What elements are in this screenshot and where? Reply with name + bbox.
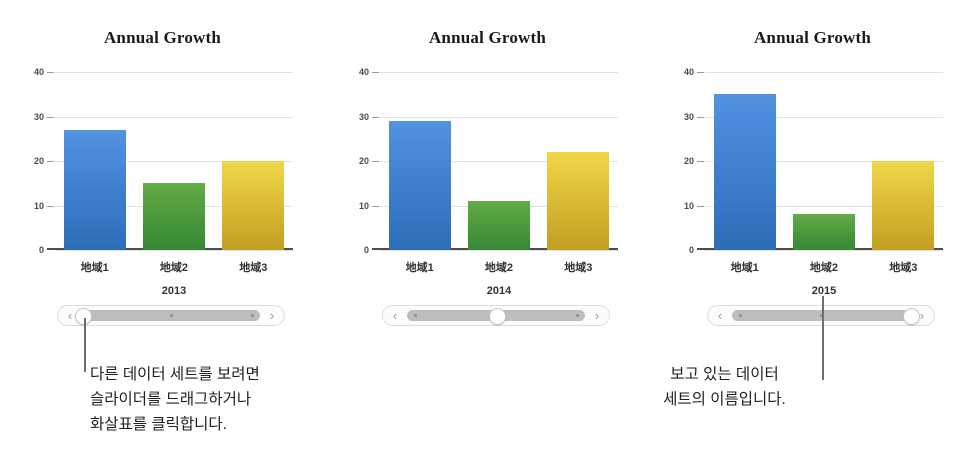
slider-tick-dot[interactable] — [414, 314, 417, 317]
bar — [714, 94, 776, 250]
data-set-slider[interactable]: ‹ › — [57, 305, 285, 326]
bar — [547, 152, 609, 250]
x-category-label: 地域1 — [705, 259, 784, 275]
x-category-label: 地域3 — [539, 259, 618, 275]
slider-tick-dot[interactable] — [170, 314, 173, 317]
slider-tick-dot[interactable] — [739, 314, 742, 317]
slider-track[interactable] — [82, 310, 260, 321]
data-set-name-label: 2015 — [705, 285, 943, 297]
y-tick-label: 10 — [359, 201, 369, 211]
bar-slot: 地域3 — [864, 72, 943, 250]
gridline: 0 — [705, 250, 943, 251]
gridline: 0 — [380, 250, 618, 251]
bar-slot: 地域2 — [134, 72, 213, 250]
chevron-left-icon[interactable]: ‹ — [385, 306, 405, 325]
data-set-slider[interactable]: ‹ › — [382, 305, 610, 326]
x-category-label: 地域2 — [784, 259, 863, 275]
chart-title: Annual Growth — [0, 28, 325, 48]
plot-area: 40 30 20 10 0 地域1 地域2 地域3 — [705, 72, 943, 250]
slider-track[interactable] — [407, 310, 585, 321]
gridline: 0 — [55, 250, 293, 251]
chart-panel-2013: Annual Growth 40 30 20 10 0 地域1 地域2 地域3 … — [0, 0, 325, 300]
data-set-name-label: 2014 — [380, 285, 618, 297]
y-tick-label: 10 — [34, 201, 44, 211]
chart-title: Annual Growth — [650, 28, 974, 48]
callout-leader-line-right — [822, 296, 824, 380]
y-tick-label: 0 — [39, 245, 44, 255]
chevron-right-icon[interactable]: › — [912, 306, 932, 325]
callout-text-dataset-name: 보고 있는 데이터 세트의 이름입니다. — [627, 362, 822, 412]
bar-slot: 地域1 — [705, 72, 784, 250]
plot-area: 40 30 20 10 0 地域1 地域2 地域3 — [55, 72, 293, 250]
y-tick-label: 10 — [684, 201, 694, 211]
data-set-slider[interactable]: ‹ › — [707, 305, 935, 326]
bar — [872, 161, 934, 250]
bar — [793, 214, 855, 250]
y-tick-label: 20 — [34, 156, 44, 166]
y-tick-label: 20 — [684, 156, 694, 166]
x-category-label: 地域2 — [134, 259, 213, 275]
y-tick-label: 20 — [359, 156, 369, 166]
y-tick-label: 30 — [684, 112, 694, 122]
chevron-right-icon[interactable]: › — [587, 306, 607, 325]
slider-knob[interactable] — [489, 308, 506, 325]
callout-text-slider: 다른 데이터 세트를 보려면 슬라이더를 드래그하거나 화살표를 클릭합니다. — [90, 362, 260, 437]
chart-panel-2015: Annual Growth 40 30 20 10 0 地域1 地域2 地域3 … — [650, 0, 974, 300]
y-tick-label: 0 — [689, 245, 694, 255]
data-set-name-label: 2013 — [55, 285, 293, 297]
y-tick-label: 40 — [34, 67, 44, 77]
y-tick-label: 30 — [34, 112, 44, 122]
bar-slot: 地域3 — [214, 72, 293, 250]
bar — [468, 201, 530, 250]
bar-slot: 地域3 — [539, 72, 618, 250]
chart-title: Annual Growth — [325, 28, 650, 48]
bar — [143, 183, 205, 250]
bar — [222, 161, 284, 250]
x-category-label: 地域3 — [864, 259, 943, 275]
chart-panel-2014: Annual Growth 40 30 20 10 0 地域1 地域2 地域3 … — [325, 0, 650, 300]
y-tick-label: 30 — [359, 112, 369, 122]
y-tick-label: 40 — [684, 67, 694, 77]
bar — [64, 130, 126, 250]
bar-slot: 地域1 — [55, 72, 134, 250]
slider-tick-dot[interactable] — [576, 314, 579, 317]
chevron-left-icon[interactable]: ‹ — [710, 306, 730, 325]
bar-slot: 地域2 — [459, 72, 538, 250]
x-category-label: 地域1 — [55, 259, 134, 275]
slider-knob[interactable] — [75, 308, 92, 325]
bar-slot: 地域2 — [784, 72, 863, 250]
bar-group: 地域1 地域2 地域3 — [705, 72, 943, 250]
bar — [389, 121, 451, 250]
slider-track[interactable] — [732, 310, 910, 321]
x-category-label: 地域3 — [214, 259, 293, 275]
bar-group: 地域1 地域2 地域3 — [55, 72, 293, 250]
bar-slot: 地域1 — [380, 72, 459, 250]
plot-area: 40 30 20 10 0 地域1 地域2 地域3 — [380, 72, 618, 250]
x-category-label: 地域1 — [380, 259, 459, 275]
callout-leader-line-left — [84, 318, 86, 372]
y-tick-label: 40 — [359, 67, 369, 77]
slider-tick-dot[interactable] — [251, 314, 254, 317]
y-tick-label: 0 — [364, 245, 369, 255]
chevron-right-icon[interactable]: › — [262, 306, 282, 325]
bar-group: 地域1 地域2 地域3 — [380, 72, 618, 250]
x-category-label: 地域2 — [459, 259, 538, 275]
